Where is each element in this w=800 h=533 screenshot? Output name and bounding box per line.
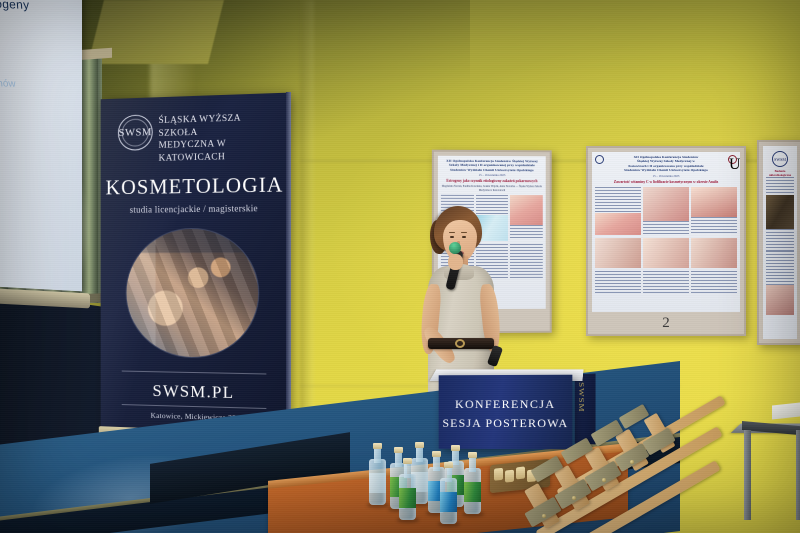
- poster-1-authors: Magdalena Nowak, Paulina Kowalska, Joann…: [441, 185, 543, 192]
- poster-3-photo: [766, 285, 794, 315]
- poster-2-columns: [595, 187, 737, 235]
- poster-3-text-block-2: [766, 229, 794, 251]
- eyebrow-left: [449, 232, 455, 233]
- seat-bolt: [630, 460, 634, 464]
- poster-2-columns-bottom: [595, 271, 737, 293]
- poster-3: SWSM Badania mikrobiologiczne: [763, 146, 797, 339]
- poster-2-photo-3: [691, 187, 737, 217]
- snack-item: [505, 470, 514, 483]
- poster-2-text-block: [595, 187, 641, 213]
- poster-2-photo-4: [595, 238, 641, 268]
- bottle-neck: [433, 455, 440, 471]
- side-table-leg: [744, 430, 751, 520]
- wall-pilaster-secondary: [300, 0, 314, 470]
- papers-on-table[interactable]: [772, 403, 800, 420]
- poster-2-column-right: [691, 187, 737, 235]
- poster-2-number: 2: [662, 315, 670, 332]
- conference-photo-scene: estrogeny estrogenów SWSM ŚLĄSKA WYŻSZA …: [0, 0, 800, 533]
- bottle-label: [464, 482, 481, 502]
- poster-board-3[interactable]: SWSM Badania mikrobiologiczne: [757, 140, 800, 345]
- bottle-label: [399, 488, 416, 508]
- poster-2-bottom-left: [595, 271, 641, 293]
- bottle-cap: [468, 452, 477, 458]
- bottle-neck: [445, 466, 452, 482]
- poster-2-text-block-2: [643, 221, 689, 235]
- poster-3-text-block-3: [766, 251, 794, 285]
- school-name-line-1: ŚLĄSKA WYŻSZA SZKOŁA: [159, 111, 283, 140]
- poster-3-micrograph: [766, 195, 794, 229]
- bottle-cap: [403, 458, 412, 464]
- poster-2-text-block-5: [643, 271, 689, 293]
- poster-2-logo-left-icon: [595, 155, 604, 164]
- seat-bolt: [572, 496, 576, 500]
- poster-2-lower-right: [691, 238, 737, 268]
- poster-board-2[interactable]: XII Ogólnopolska Konferencja Studentów Ś…: [586, 146, 746, 336]
- bottle-neck: [416, 446, 423, 462]
- projection-screen: estrogeny estrogenów: [0, 0, 82, 291]
- bottle-cap: [373, 443, 382, 449]
- banner-photo-collage: [126, 227, 260, 359]
- bottle-neck: [469, 456, 476, 472]
- eye-right: [462, 236, 466, 238]
- poster-2-date: 15 – 16 kwietnia 2023: [595, 174, 737, 178]
- poster-2-column-left: [595, 187, 641, 235]
- poster-2-photo-5: [643, 238, 689, 268]
- poster-2-title: Zawartość witaminy C w liofilizacie kosm…: [595, 180, 737, 184]
- side-table-leg: [796, 430, 800, 520]
- poster-2-bottom-mid: [643, 271, 689, 293]
- hand-left: [448, 254, 463, 270]
- slide-text-bottom: estrogenów: [0, 78, 16, 90]
- poster-2: XII Ogólnopolska Konferencja Studentów Ś…: [592, 152, 740, 312]
- snack-item: [516, 466, 525, 479]
- banner-program-subtitle: studia licencjackie / magisterskie: [101, 203, 289, 215]
- banner-program-title: KOSMETOLOGIA: [101, 172, 289, 200]
- poster-1-header-line-3: Studentów Wydziału Chemii Uniwersytetu O…: [441, 168, 543, 173]
- school-name-line-2: MEDYCZNA W KATOWICACH: [159, 137, 283, 165]
- banner-support-pole: [286, 92, 291, 442]
- poster-2-photo-2: [643, 187, 689, 221]
- seat-bolt: [602, 478, 606, 482]
- poster-2-lower-left: [595, 238, 641, 268]
- seat-cushion[interactable]: [642, 428, 675, 456]
- poster-2-lower-mid: [643, 238, 689, 268]
- banner-school-name: ŚLĄSKA WYŻSZA SZKOŁA MEDYCZNA W KATOWICA…: [159, 111, 283, 165]
- poster-2-header-line-4: Studentów Wydziału Chemii Uniwersytetu O…: [606, 168, 726, 172]
- bottle-cap: [415, 442, 424, 448]
- poster-2-logo-right-icon: UO: [728, 155, 737, 164]
- auditorium-seating: [528, 366, 800, 533]
- water-bottle[interactable]: [369, 443, 386, 505]
- poster-3-text-block: [766, 177, 794, 195]
- slide-text-top: estrogeny: [0, 0, 30, 12]
- belt-buckle: [455, 339, 465, 348]
- speaker-presenter: [404, 198, 526, 398]
- bottle-cap: [444, 462, 453, 468]
- poster-2-text-block-4: [595, 271, 641, 293]
- bottle-cap: [432, 451, 441, 457]
- poster-2-columns-lower: [595, 238, 737, 268]
- water-bottle[interactable]: [399, 458, 416, 520]
- poster-2-photo-6: [691, 238, 737, 268]
- poster-3-title: Badania mikrobiologiczne: [766, 169, 794, 177]
- poster-3-swsm-logo-icon: SWSM: [772, 151, 788, 167]
- bottle-cap: [451, 445, 460, 451]
- water-bottle[interactable]: [464, 452, 481, 514]
- poster-2-column-mid: [643, 187, 689, 235]
- eyebrow-right: [461, 232, 467, 233]
- water-bottle[interactable]: [440, 462, 457, 524]
- seat-bolt: [542, 514, 546, 518]
- seat-cushion[interactable]: [619, 404, 650, 429]
- swsm-logo-text: SWSM: [119, 126, 152, 139]
- snack-item: [494, 468, 503, 481]
- poster-1-date: 15 – 16 kwietnia 2023: [441, 173, 543, 177]
- poster-2-text-block-6: [691, 271, 737, 293]
- bottle-neck: [374, 447, 381, 463]
- bottle-neck: [404, 462, 411, 478]
- poster-2-text-block-3: [691, 217, 737, 235]
- poster-2-bottom-right: [691, 271, 737, 293]
- poster-1-title: Estrogeny jako czynnik etiologiczny zaka…: [441, 179, 543, 183]
- bottle-label: [369, 473, 386, 493]
- bottle-cap: [394, 447, 403, 453]
- poster-2-photo-1: [595, 213, 641, 235]
- rollup-banner: SWSM ŚLĄSKA WYŻSZA SZKOŁA MEDYCZNA W KAT…: [101, 93, 289, 452]
- bottle-label: [440, 492, 457, 512]
- eye-left: [450, 236, 454, 238]
